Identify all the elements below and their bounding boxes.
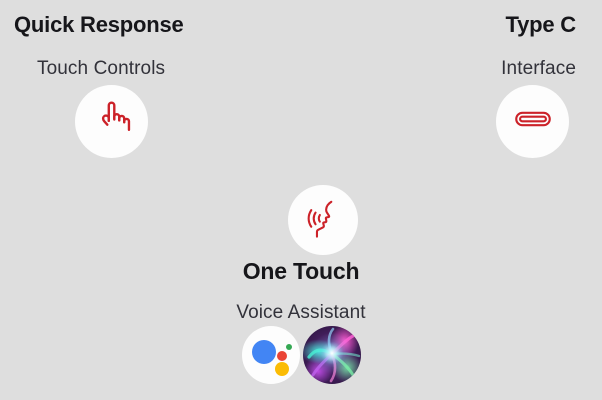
quick-response-subtitle: Touch Controls <box>37 59 165 78</box>
speaking-face-voice-icon <box>302 197 344 244</box>
voice-icon-disc <box>288 185 358 255</box>
siri-swirl-icon <box>303 326 361 384</box>
touch-controls-icon-disc <box>75 85 148 158</box>
google-assistant-red-dot <box>277 351 287 361</box>
assistant-logo-row <box>0 326 602 384</box>
google-assistant-logo <box>242 326 300 384</box>
voice-assistant-subtitle: Voice Assistant <box>0 303 602 322</box>
type-c-icon-disc <box>496 85 569 158</box>
type-c-title: Type C <box>505 14 576 36</box>
google-assistant-blue-dot <box>252 340 276 364</box>
pointing-hand-touch-icon <box>90 97 134 146</box>
usb-type-c-port-icon <box>510 96 556 147</box>
one-touch-title: One Touch <box>0 260 602 283</box>
siri-logo <box>303 326 361 384</box>
google-assistant-yellow-dot <box>275 362 289 376</box>
type-c-subtitle: Interface <box>501 59 576 78</box>
quick-response-title: Quick Response <box>14 14 184 36</box>
feature-graphic-canvas: Quick Response Touch Controls Type C Int… <box>0 0 602 400</box>
google-assistant-green-dot <box>286 344 292 350</box>
